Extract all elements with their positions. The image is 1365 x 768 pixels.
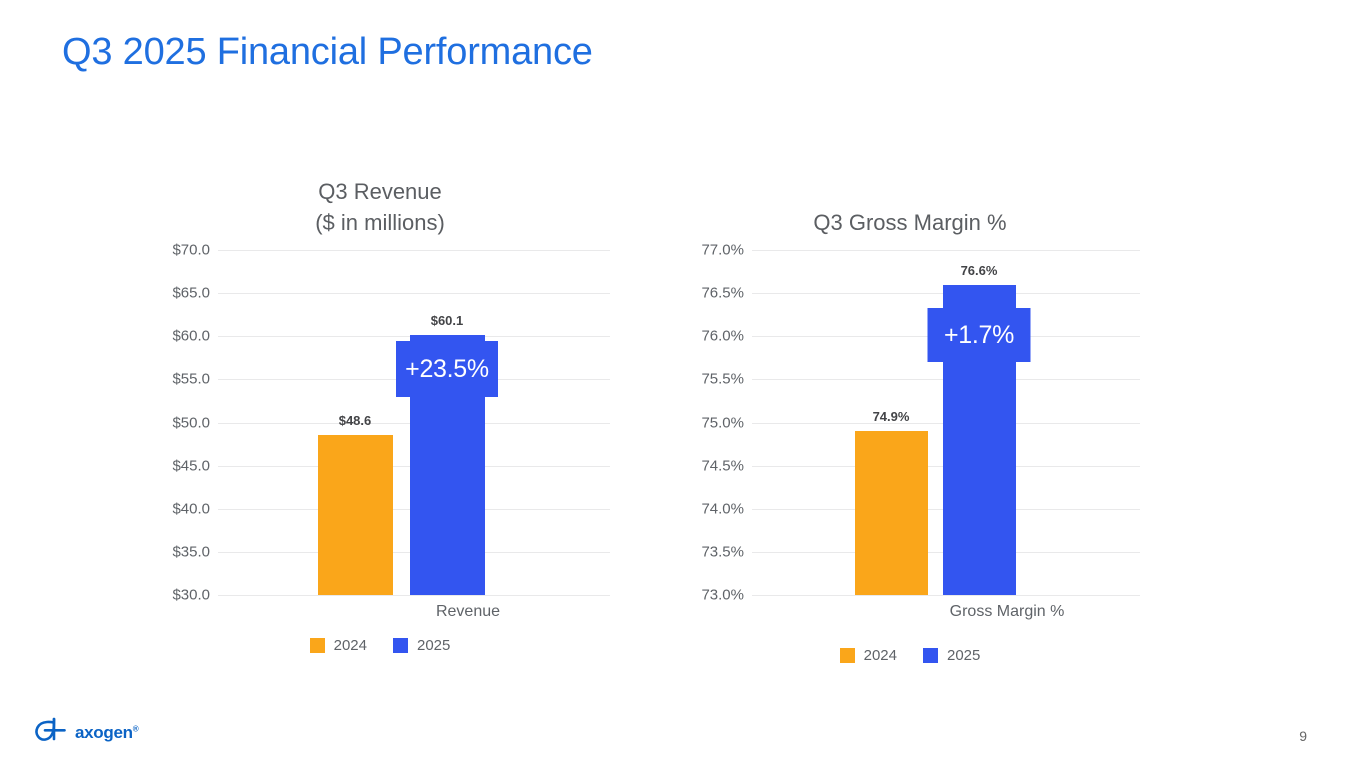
legend-swatch-2024 (310, 638, 325, 653)
bar-2024[interactable] (318, 435, 393, 595)
bar-value-label-2025: 76.6% (961, 263, 998, 278)
legend-label-2025: 2025 (417, 637, 450, 654)
gridline (752, 595, 1140, 596)
legend-label-2025: 2025 (947, 647, 980, 664)
plot-area-gross-margin: 77.0%76.5%76.0%75.5%75.0%74.5%74.0%73.5%… (680, 250, 1140, 595)
chart-title-revenue: Q3 Revenue ($ in millions) (150, 176, 610, 238)
bars-revenue: $48.6$60.1+23.5% (150, 250, 610, 595)
bar-value-label-2024: 74.9% (873, 409, 910, 424)
page-title: Q3 2025 Financial Performance (62, 28, 593, 76)
chart-gross-margin: Q3 Gross Margin % 77.0%76.5%76.0%75.5%75… (680, 170, 1140, 670)
plot-area-revenue: $70.0$65.0$60.0$55.0$50.0$45.0$40.0$35.0… (150, 250, 610, 595)
legend-swatch-2024 (840, 648, 855, 663)
growth-badge: +1.7% (928, 308, 1031, 362)
growth-badge: +23.5% (396, 341, 498, 397)
legend-swatch-2025 (393, 638, 408, 653)
legend-revenue: 2024 2025 (150, 637, 610, 654)
legend-gross-margin: 2024 2025 (680, 647, 1140, 664)
chart-title-gross-margin: Q3 Gross Margin % (680, 207, 1140, 238)
gridline (218, 595, 610, 596)
page-number: 9 (1299, 728, 1307, 744)
axogen-logo: axogen® (30, 716, 138, 750)
legend-item-2025[interactable]: 2025 (393, 637, 450, 654)
axogen-mark-icon (30, 716, 68, 750)
chart-revenue: Q3 Revenue ($ in millions) $70.0$65.0$60… (150, 170, 610, 670)
bar-2024[interactable] (855, 431, 928, 595)
legend-item-2024[interactable]: 2024 (840, 647, 897, 664)
legend-label-2024: 2024 (864, 647, 897, 664)
x-axis-category-label: Gross Margin % (950, 603, 1065, 621)
legend-swatch-2025 (923, 648, 938, 663)
legend-item-2025[interactable]: 2025 (923, 647, 980, 664)
bar-value-label-2024: $48.6 (339, 413, 372, 428)
legend-label-2024: 2024 (334, 637, 367, 654)
registered-mark-icon: ® (133, 724, 139, 733)
x-axis-category-label: Revenue (436, 603, 500, 621)
bars-gross-margin: 74.9%76.6%+1.7% (680, 250, 1140, 595)
legend-item-2024[interactable]: 2024 (310, 637, 367, 654)
axogen-wordmark: axogen® (75, 723, 138, 743)
bar-value-label-2025: $60.1 (431, 313, 464, 328)
axogen-wordmark-text: axogen (75, 723, 133, 742)
